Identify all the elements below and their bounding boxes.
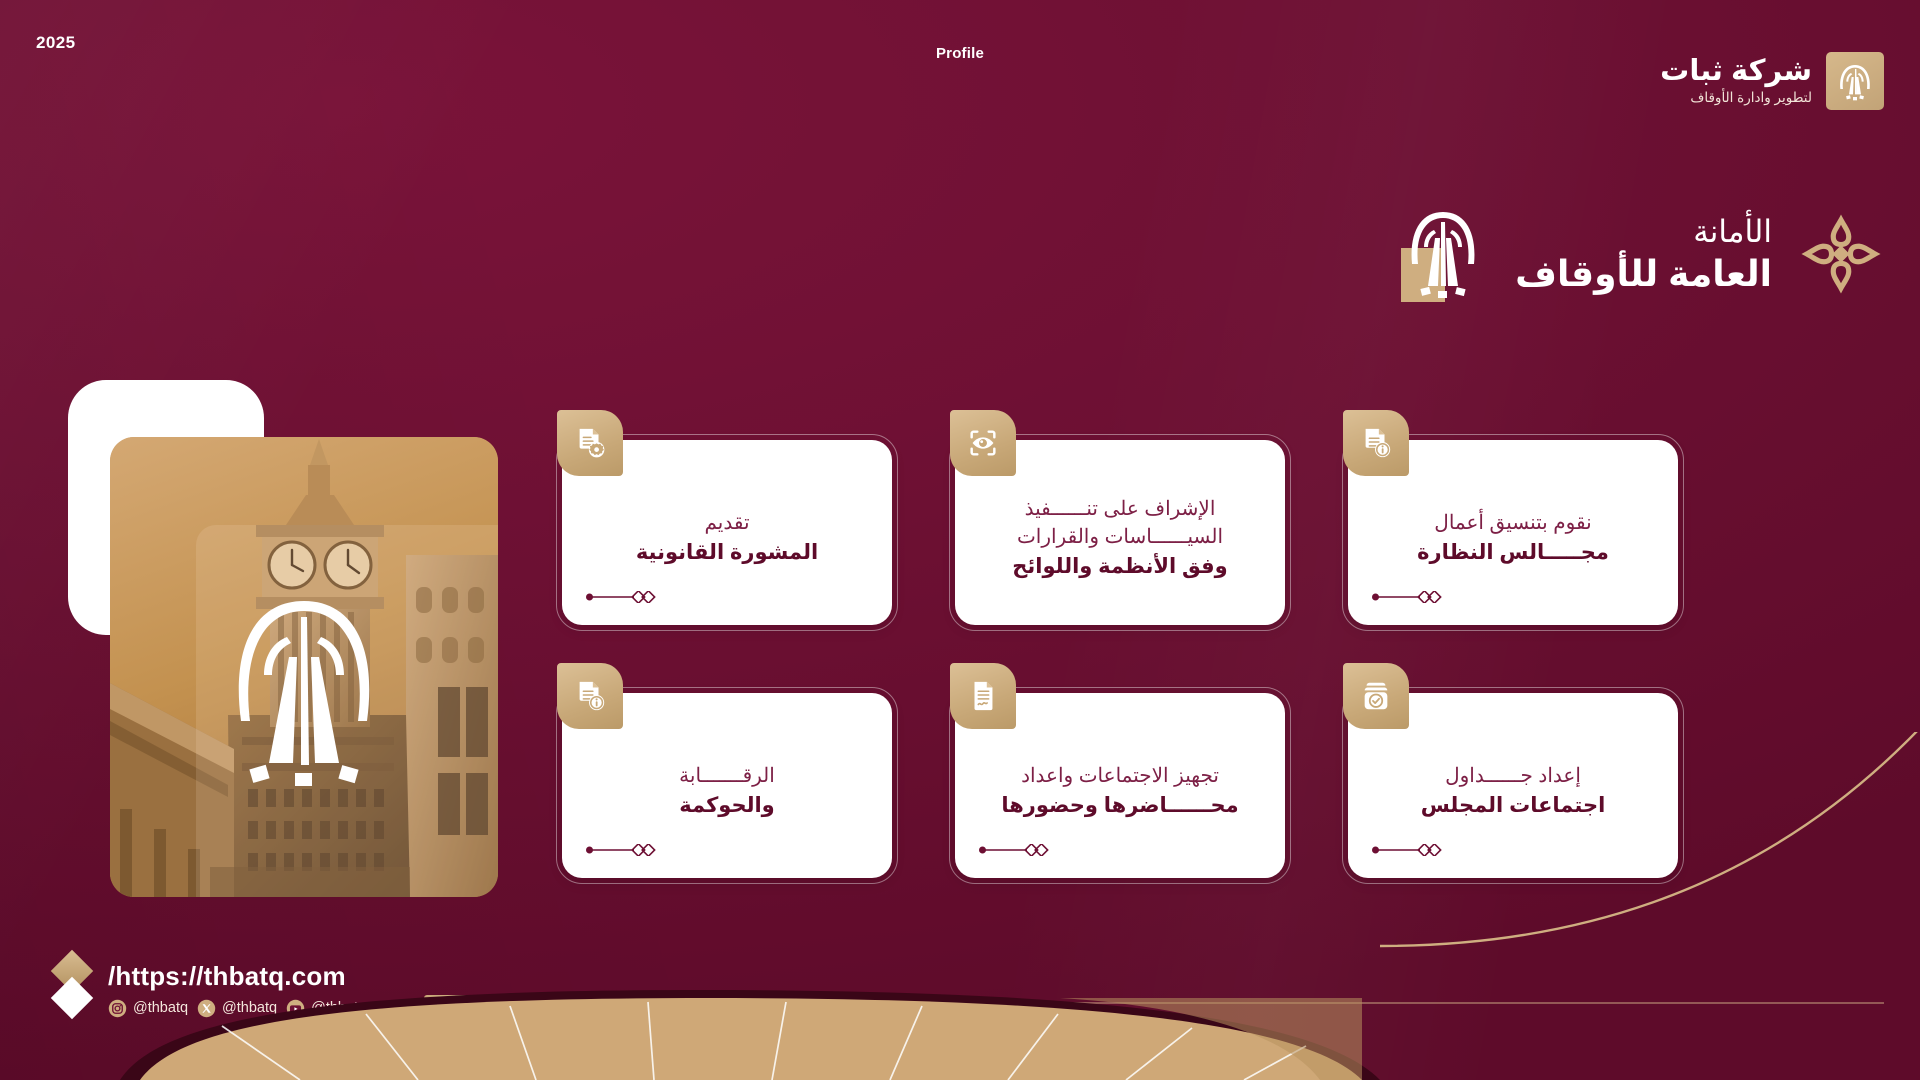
card-text: الرقـــــــابة والحوكمة [588,762,866,821]
quatrefoil-ornament-icon [1798,211,1884,297]
card-line-1: الإشراف على تنــــــفيذ السيــــــاسات و… [981,495,1259,552]
makkah-clock-tower-photo [110,437,498,897]
card-line-2: المشورة القانونية [588,538,866,568]
section-title-line1: الأمانة [1515,213,1772,250]
section-title-line2: العامة للأوقاف [1515,252,1772,295]
card-line-1: تجهيز الاجتماعات واعداد [981,762,1259,790]
eye-scan-icon [950,410,1016,476]
document-gear-icon [557,410,623,476]
card-line-2: والحوكمة [588,791,866,821]
service-card[interactable]: تجهيز الاجتماعات واعداد محــــــاضرها وح… [955,693,1285,878]
card-divider [586,844,660,856]
palm-arch-emblem-icon [1397,206,1489,302]
page-kicker: Profile [0,45,1920,62]
card-text: تقديم المشورة القانونية [588,509,866,568]
service-card[interactable]: تقديم المشورة القانونية [562,440,892,625]
palm-arch-watermark-icon [209,595,399,795]
card-line-1: نقوم بتنسيق أعمال [1374,509,1652,537]
card-line-1: تقديم [588,509,866,537]
gold-swoosh-decoration [1380,732,1920,962]
document-info-icon [1343,410,1409,476]
card-divider [979,844,1053,856]
gold-arch-band [0,984,1920,1080]
document-signature-icon [950,663,1016,729]
section-heading: الأمانة العامة للأوقاف [1397,206,1884,302]
archive-check-icon [1343,663,1409,729]
brand-text: شركة ثبات لتطوير وادارة الأوقاف [1660,56,1812,106]
brand-lockup: شركة ثبات لتطوير وادارة الأوقاف [1660,52,1884,110]
brand-subtitle: لتطوير وادارة الأوقاف [1660,90,1812,106]
photo-composition [68,380,498,895]
card-text: نقوم بتنسيق أعمال مجـــــالس النظارة [1374,509,1652,568]
section-titles: الأمانة العامة للأوقاف [1515,213,1772,295]
service-card[interactable]: الإشراف على تنــــــفيذ السيــــــاسات و… [955,440,1285,625]
card-divider [1372,591,1446,603]
card-line-2: محــــــاضرها وحضورها [981,791,1259,821]
card-line-2: وفق الأنظمة واللوائح [981,552,1259,582]
card-line-1: الرقـــــــابة [588,762,866,790]
service-card[interactable]: نقوم بتنسيق أعمال مجـــــالس النظارة [1348,440,1678,625]
palm-arch-logo-icon [1826,52,1884,110]
service-card[interactable]: الرقـــــــابة والحوكمة [562,693,892,878]
card-divider [586,591,660,603]
document-info-icon [557,663,623,729]
brand-title: شركة ثبات [1660,56,1812,86]
card-text: الإشراف على تنــــــفيذ السيــــــاسات و… [981,495,1259,583]
card-line-2: مجـــــالس النظارة [1374,538,1652,568]
card-text: تجهيز الاجتماعات واعداد محــــــاضرها وح… [981,762,1259,821]
